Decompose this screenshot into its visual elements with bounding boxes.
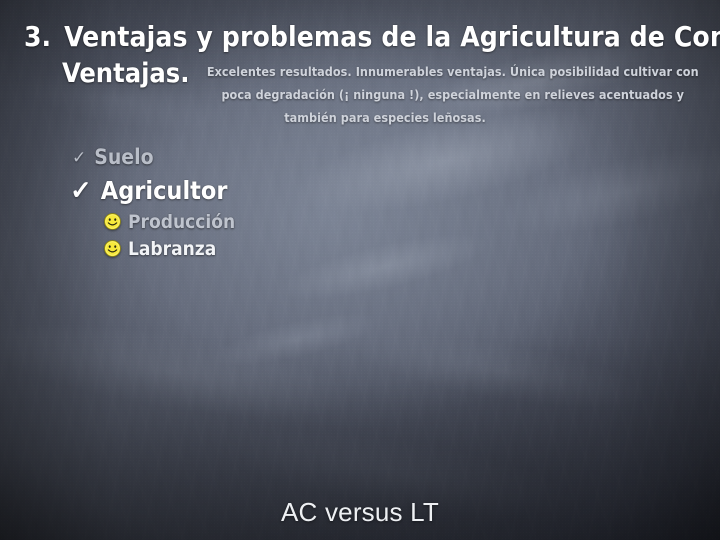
list-item-label: Agricultor bbox=[101, 176, 228, 205]
subtitle-block: Ventajas. Excelentes resultados. Innumer… bbox=[62, 60, 708, 129]
list-item-label: Labranza bbox=[128, 238, 216, 260]
subtitle-body: Excelentes resultados. Innumerables vent… bbox=[207, 64, 699, 125]
slide-canvas: 3. Ventajas y problemas de la Agricultur… bbox=[0, 0, 720, 540]
page-title: 3. Ventajas y problemas de la Agricultur… bbox=[24, 20, 720, 53]
list-item-agricultor[interactable]: ✓ Agricultor bbox=[70, 172, 235, 208]
smiley-icon bbox=[104, 240, 121, 257]
smiley-icon bbox=[104, 213, 121, 230]
check-icon: ✓ bbox=[72, 149, 86, 166]
list-item-label: Suelo bbox=[94, 145, 153, 169]
title-number: 3. bbox=[24, 20, 51, 53]
list-item-suelo[interactable]: ✓ Suelo bbox=[72, 142, 235, 172]
list-item-label: Producción bbox=[128, 211, 235, 233]
slide-content: 3. Ventajas y problemas de la Agricultur… bbox=[0, 0, 720, 540]
slide-footer: AC versus LT bbox=[0, 497, 720, 528]
list-item-labranza[interactable]: Labranza bbox=[104, 235, 235, 262]
bullet-list: ✓ Suelo ✓ Agricultor Producción bbox=[70, 142, 235, 262]
title-text: Ventajas y problemas de la Agricultura d… bbox=[64, 20, 720, 53]
list-item-produccion[interactable]: Producción bbox=[104, 208, 235, 235]
subtitle-heading: Ventajas. bbox=[62, 60, 190, 87]
subtitle-paragraph: Ventajas. Excelentes resultados. Innumer… bbox=[62, 60, 708, 129]
check-icon: ✓ bbox=[70, 177, 92, 203]
